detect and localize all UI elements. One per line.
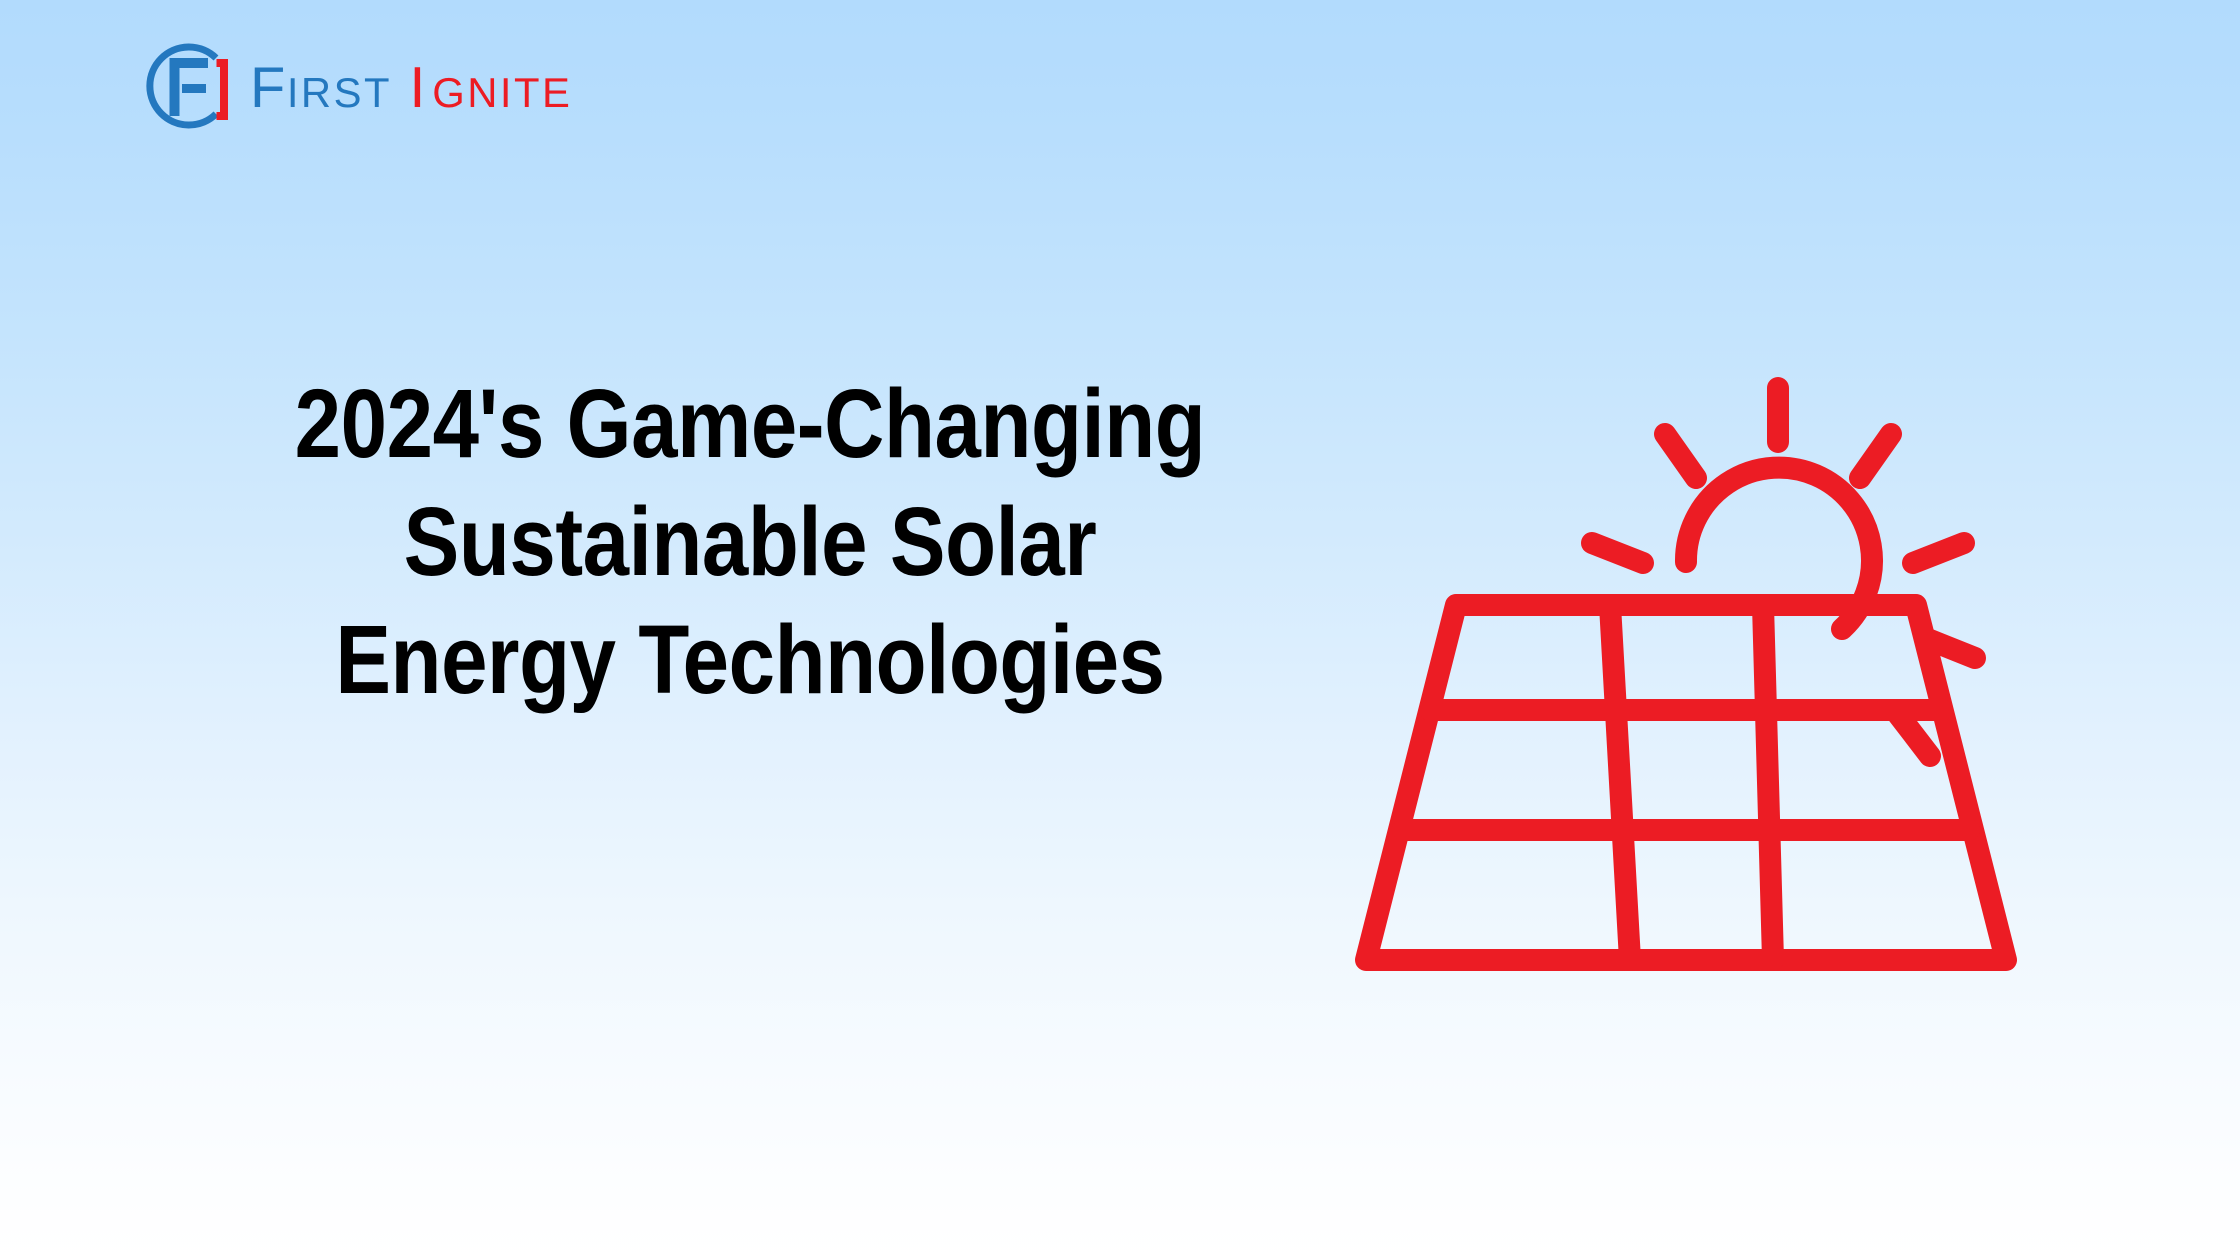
solar-panel-with-sun-illustration [1330,370,2070,990]
svg-text:F: F [250,56,287,120]
firstignite-logo[interactable]: F IRST I GNITE [138,36,718,136]
headline-line-3: Energy Technologies [182,601,1317,719]
page-title: 2024's Game-Changing Sustainable Solar E… [182,365,1317,719]
firstignite-wordmark-icon: F IRST I GNITE [250,50,718,122]
svg-text:GNITE: GNITE [432,69,572,116]
svg-text:I: I [409,56,427,120]
solar-panel-icon [1366,605,2006,960]
firstignite-circle-f-mark-icon [138,36,238,136]
headline-line-2: Sustainable Solar [182,483,1317,601]
poster-canvas: F IRST I GNITE 2024's Game-Changing Sust… [0,0,2240,1260]
headline-line-1: 2024's Game-Changing [182,365,1317,483]
solar-illustration-svg [1330,370,2070,990]
svg-text:IRST: IRST [287,69,392,116]
